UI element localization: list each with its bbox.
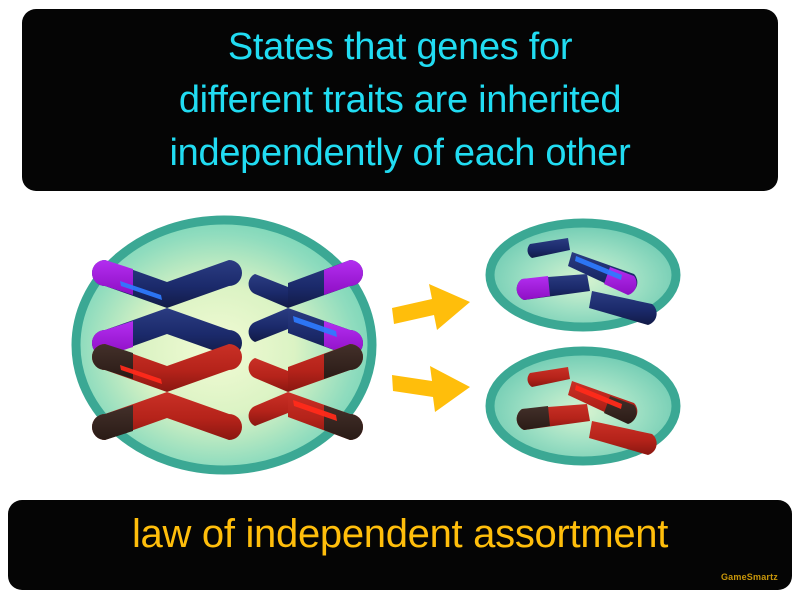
arrow-to-top-daughter-cell — [392, 284, 470, 330]
watermark-label: GameSmartz — [721, 572, 778, 582]
definition-line-2: different traits are inherited — [179, 74, 621, 127]
parent-cell — [76, 220, 372, 470]
arrow-to-bottom-daughter-cell — [392, 366, 470, 412]
term-label: law of independent assortment — [8, 509, 792, 559]
meiosis-illustration — [0, 195, 800, 495]
definition-line-3: independently of each other — [170, 127, 631, 180]
definition-banner: States that genes for different traits a… — [22, 9, 778, 191]
illustration-svg — [0, 195, 800, 495]
definition-line-1: States that genes for — [228, 21, 572, 74]
daughter-cell-bottom — [490, 351, 676, 461]
daughter-cell-top — [490, 223, 676, 327]
term-banner: law of independent assortment GameSmartz — [8, 500, 792, 590]
